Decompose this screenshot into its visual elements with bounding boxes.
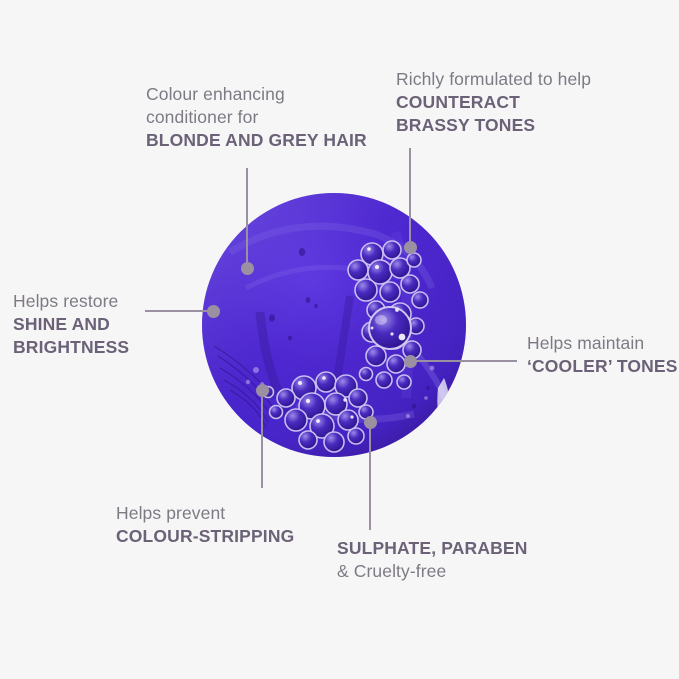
callout-line: COUNTERACT bbox=[396, 91, 591, 114]
callout-blonde-and-grey-hair: Colour enhancing conditioner for BLONDE … bbox=[146, 83, 367, 151]
callout-line: Helps maintain bbox=[527, 332, 678, 355]
connector-line-stripping bbox=[261, 394, 263, 488]
callout-counteract-brassy-tones: Richly formulated to help COUNTERACT BRA… bbox=[396, 68, 591, 136]
callout-sulphate-paraben-cruelty-free: SULPHATE, PARABEN & Cruelty-free bbox=[337, 537, 528, 583]
callout-line: conditioner for bbox=[146, 106, 367, 129]
connector-line-sulphate bbox=[369, 426, 371, 530]
connector-line-blonde bbox=[246, 168, 248, 268]
callout-line: Richly formulated to help bbox=[396, 68, 591, 91]
callout-line: ‘COOLER’ TONES bbox=[527, 355, 678, 378]
callout-cooler-tones: Helps maintain ‘COOLER’ TONES bbox=[527, 332, 678, 378]
callout-colour-stripping: Helps prevent COLOUR-STRIPPING bbox=[116, 502, 294, 548]
connector-dot-blonde bbox=[241, 262, 254, 275]
callout-line: SHINE AND bbox=[13, 313, 129, 336]
callout-line: COLOUR-STRIPPING bbox=[116, 525, 294, 548]
callout-line: BLONDE AND GREY HAIR bbox=[146, 129, 367, 152]
infographic-canvas: Colour enhancing conditioner for BLONDE … bbox=[0, 0, 679, 679]
callout-line: BRIGHTNESS bbox=[13, 336, 129, 359]
callout-line: & Cruelty-free bbox=[337, 560, 528, 583]
callout-line: Colour enhancing bbox=[146, 83, 367, 106]
callout-line: SULPHATE, PARABEN bbox=[337, 537, 528, 560]
connector-dot-shine bbox=[207, 305, 220, 318]
connector-dot-stripping bbox=[256, 384, 269, 397]
callout-shine-and-brightness: Helps restore SHINE AND BRIGHTNESS bbox=[13, 290, 129, 358]
connector-line-cooler bbox=[412, 360, 517, 362]
connector-dot-sulphate bbox=[364, 416, 377, 429]
connector-line-shine bbox=[145, 310, 215, 312]
callout-line: Helps restore bbox=[13, 290, 129, 313]
product-swatch bbox=[200, 192, 468, 458]
callout-line: Helps prevent bbox=[116, 502, 294, 525]
callout-line: BRASSY TONES bbox=[396, 114, 591, 137]
connector-dot-brassy bbox=[404, 241, 417, 254]
purple-gel-blob-graphic bbox=[200, 192, 468, 458]
blob-texture bbox=[200, 192, 468, 458]
connector-line-brassy bbox=[409, 148, 411, 247]
connector-dot-cooler bbox=[404, 355, 417, 368]
